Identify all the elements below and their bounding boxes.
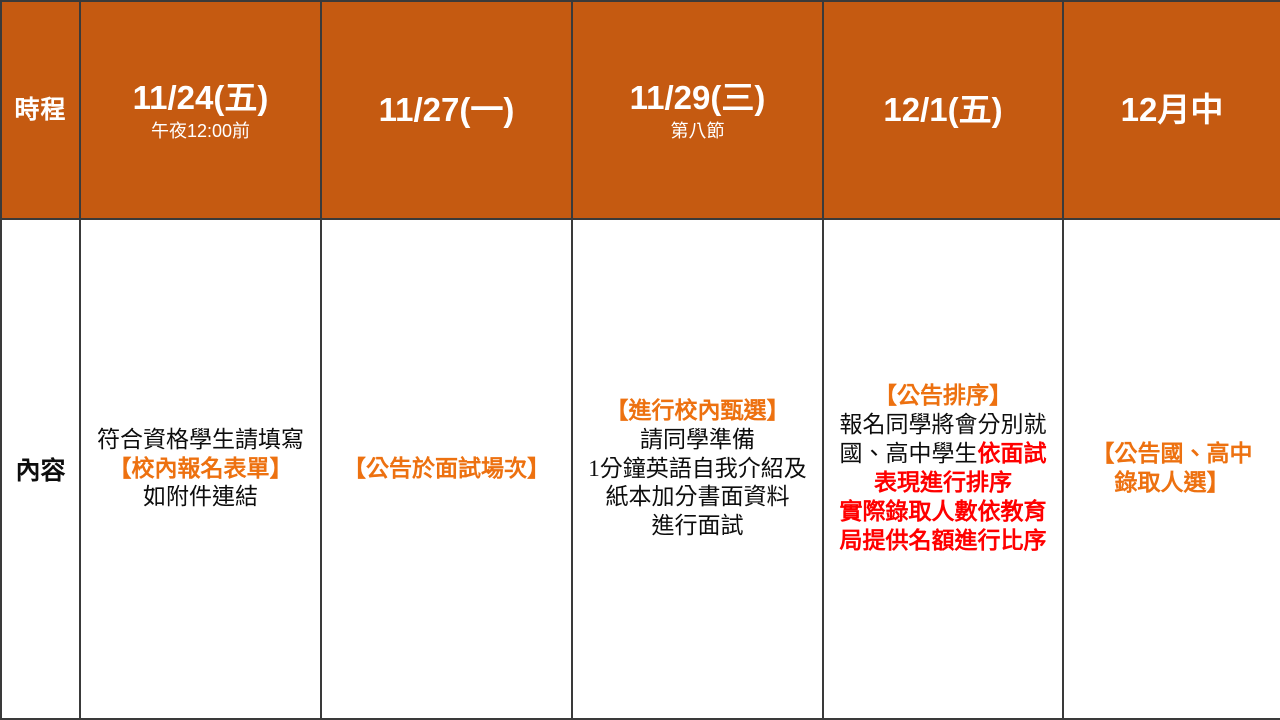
content-segment: 1分鐘英語自我介紹及 xyxy=(588,456,807,481)
content-segment: 【公告排序】 xyxy=(874,383,1012,408)
content-line: 實際錄取人數依教育 xyxy=(824,498,1062,527)
content-line: 【公告於面試場次】 xyxy=(322,455,571,484)
content-line: 【進行校內甄選】 xyxy=(573,397,822,426)
content-line: 紙本加分書面資料 xyxy=(573,483,822,512)
content-line: 進行面試 xyxy=(573,512,822,541)
content-line: 符合資格學生請填寫 xyxy=(81,426,320,455)
header-subtitle-1: 午夜12:00前 xyxy=(151,121,250,142)
header-date-4: 12/1(五) xyxy=(883,91,1002,129)
content-line: 報名同學將會分別就 xyxy=(824,411,1062,440)
content-segment: 如附件連結 xyxy=(143,484,258,509)
header-subtitle-3: 第八節 xyxy=(671,121,725,142)
header-cell-5: 12月中 xyxy=(1063,1,1280,219)
content-segment: 依面試 xyxy=(978,441,1047,466)
header-row-label: 時程 xyxy=(1,1,80,219)
content-line: 【公告國、高中 xyxy=(1064,440,1280,469)
content-cell-3: 【進行校內甄選】請同學準備1分鐘英語自我介紹及紙本加分書面資料進行面試 xyxy=(572,219,823,719)
content-line: 國、高中學生依面試 xyxy=(824,440,1062,469)
content-segment: 表現進行排序 xyxy=(874,470,1012,495)
table-header-row: 時程 11/24(五) 午夜12:00前 11/27(一) 11/29(三) 第… xyxy=(1,1,1280,219)
content-segment: 報名同學將會分別就 xyxy=(840,412,1047,437)
content-segment: 進行面試 xyxy=(652,513,744,538)
content-segment: 請同學準備 xyxy=(640,427,755,452)
header-date-2: 11/27(一) xyxy=(379,91,515,129)
content-segment: 【公告國、高中 xyxy=(1092,441,1253,466)
header-cell-4: 12/1(五) xyxy=(823,1,1063,219)
content-line: 請同學準備 xyxy=(573,426,822,455)
content-cell-2: 【公告於面試場次】 xyxy=(321,219,572,719)
header-date-1: 11/24(五) xyxy=(133,79,269,117)
content-segment: 實際錄取人數依教育 xyxy=(840,499,1047,524)
content-cell-4: 【公告排序】報名同學將會分別就國、高中學生依面試表現進行排序實際錄取人數依教育局… xyxy=(823,219,1063,719)
content-segment: 局提供名額進行比序 xyxy=(840,528,1047,553)
header-cell-1: 11/24(五) 午夜12:00前 xyxy=(80,1,321,219)
schedule-table: 時程 11/24(五) 午夜12:00前 11/27(一) 11/29(三) 第… xyxy=(0,0,1280,720)
header-cell-2: 11/27(一) xyxy=(321,1,572,219)
content-line: 表現進行排序 xyxy=(824,469,1062,498)
content-line: 【公告排序】 xyxy=(824,382,1062,411)
content-line: 【校內報名表單】 xyxy=(81,455,320,484)
content-segment: 國、高中學生 xyxy=(840,441,978,466)
content-line: 1分鐘英語自我介紹及 xyxy=(573,455,822,484)
body-row-label: 內容 xyxy=(1,219,80,719)
header-cell-3: 11/29(三) 第八節 xyxy=(572,1,823,219)
content-segment: 【公告於面試場次】 xyxy=(343,456,550,481)
header-date-3: 11/29(三) xyxy=(630,79,766,117)
content-segment: 【校內報名表單】 xyxy=(109,456,293,481)
content-segment: 符合資格學生請填寫 xyxy=(97,427,304,452)
content-line: 局提供名額進行比序 xyxy=(824,527,1062,556)
table-body-row: 內容 符合資格學生請填寫【校內報名表單】如附件連結 【公告於面試場次】 【進行校… xyxy=(1,219,1280,719)
content-cell-5: 【公告國、高中錄取人選】 xyxy=(1063,219,1280,719)
content-line: 錄取人選】 xyxy=(1064,469,1280,498)
content-segment: 錄取人選】 xyxy=(1115,470,1230,495)
content-line: 如附件連結 xyxy=(81,483,320,512)
content-segment: 紙本加分書面資料 xyxy=(606,484,790,509)
header-date-5: 12月中 xyxy=(1121,91,1224,129)
content-cell-1: 符合資格學生請填寫【校內報名表單】如附件連結 xyxy=(80,219,321,719)
content-segment: 【進行校內甄選】 xyxy=(606,398,790,423)
